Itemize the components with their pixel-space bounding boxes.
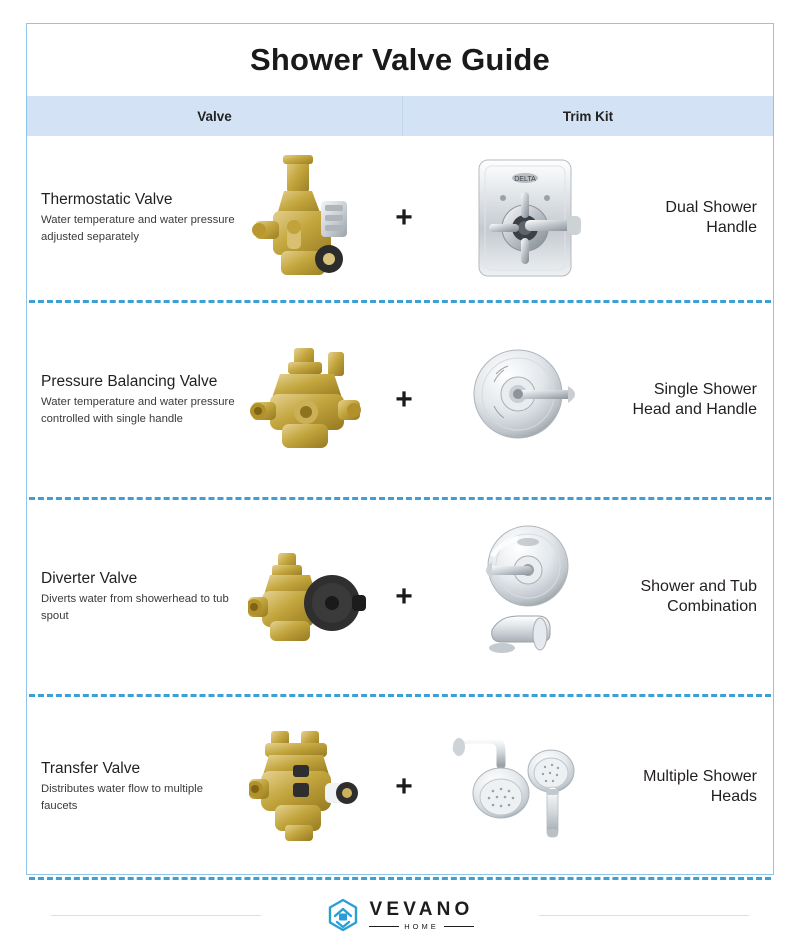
valve-image-cell (237, 731, 377, 843)
valve-image-cell (237, 155, 377, 281)
vevano-home-logo[interactable]: VEVANO HOME (314, 898, 485, 932)
valve-description-cell: Pressure Balancing Valve Water temperatu… (27, 373, 237, 427)
round-trim-kit-with-tub-spout-image (462, 522, 590, 672)
trim-kit-image-cell (431, 344, 621, 456)
table-body: Thermostatic Valve Water temperature and… (27, 136, 773, 880)
plus-symbol: + (377, 582, 431, 612)
logo-wordmark: VEVANO (369, 900, 473, 919)
vevano-hexagon-house-icon (326, 898, 360, 932)
trim-kit-image-cell (431, 731, 621, 843)
result-label: Dual Shower Handle (621, 198, 773, 238)
plus-symbol: + (377, 385, 431, 415)
diverter-valve-image (248, 551, 366, 643)
logo-text: VEVANO HOME (369, 900, 473, 931)
table-header-row: Valve Trim Kit (27, 96, 773, 136)
valve-image-cell (237, 551, 377, 643)
footer-rule-left (51, 915, 261, 916)
logo-tagline-row: HOME (369, 923, 473, 931)
valve-name: Thermostatic Valve (41, 191, 237, 209)
footer: VEVANO HOME (27, 880, 773, 950)
title-bar: Shower Valve Guide (27, 24, 773, 96)
result-label: Multiple Shower Heads (621, 767, 773, 807)
pressure-balancing-valve-image (250, 348, 364, 452)
valve-description-cell: Transfer Valve Distributes water flow to… (27, 760, 237, 814)
valve-subtext: Distributes water flow to multiple fauce… (41, 781, 237, 814)
result-label: Single Shower Head and Handle (621, 380, 773, 420)
valve-subtext: Water temperature and water pressure con… (41, 394, 237, 427)
trim-kit-image-cell (431, 522, 621, 672)
logo-tagline-rule-right (444, 926, 474, 927)
infographic-card: Shower Valve Guide Valve Trim Kit Thermo… (26, 23, 774, 875)
logo-tagline: HOME (404, 923, 439, 931)
table-row: Transfer Valve Distributes water flow to… (27, 697, 773, 877)
column-header-valve: Valve (27, 96, 403, 136)
valve-name: Pressure Balancing Valve (41, 373, 237, 391)
logo-tagline-rule-left (369, 926, 399, 927)
valve-name: Transfer Valve (41, 760, 237, 778)
table-row: Thermostatic Valve Water temperature and… (27, 136, 773, 300)
valve-description-cell: Diverter Valve Diverts water from shower… (27, 570, 237, 624)
svg-text:DELTA: DELTA (514, 176, 536, 183)
page-title: Shower Valve Guide (250, 42, 550, 78)
plus-symbol: + (377, 772, 431, 802)
footer-rule-right (539, 915, 749, 916)
thermostatic-valve-image (251, 155, 363, 281)
delta-square-trim-kit-image: DELTA (463, 154, 589, 282)
shower-head-and-handheld-image (451, 731, 601, 843)
valve-name: Diverter Valve (41, 570, 237, 588)
column-header-trim-kit: Trim Kit (403, 96, 773, 136)
transfer-valve-image (249, 731, 365, 843)
plus-symbol: + (377, 203, 431, 233)
trim-kit-image-cell: DELTA (431, 154, 621, 282)
valve-subtext: Water temperature and water pressure adj… (41, 212, 237, 245)
valve-description-cell: Thermostatic Valve Water temperature and… (27, 191, 237, 245)
table-row: Pressure Balancing Valve Water temperatu… (27, 303, 773, 497)
valve-subtext: Diverts water from showerhead to tub spo… (41, 591, 237, 624)
result-label: Shower and Tub Combination (621, 577, 773, 617)
valve-image-cell (237, 348, 377, 452)
table-row: Diverter Valve Diverts water from shower… (27, 500, 773, 694)
round-trim-kit-image (464, 344, 588, 456)
